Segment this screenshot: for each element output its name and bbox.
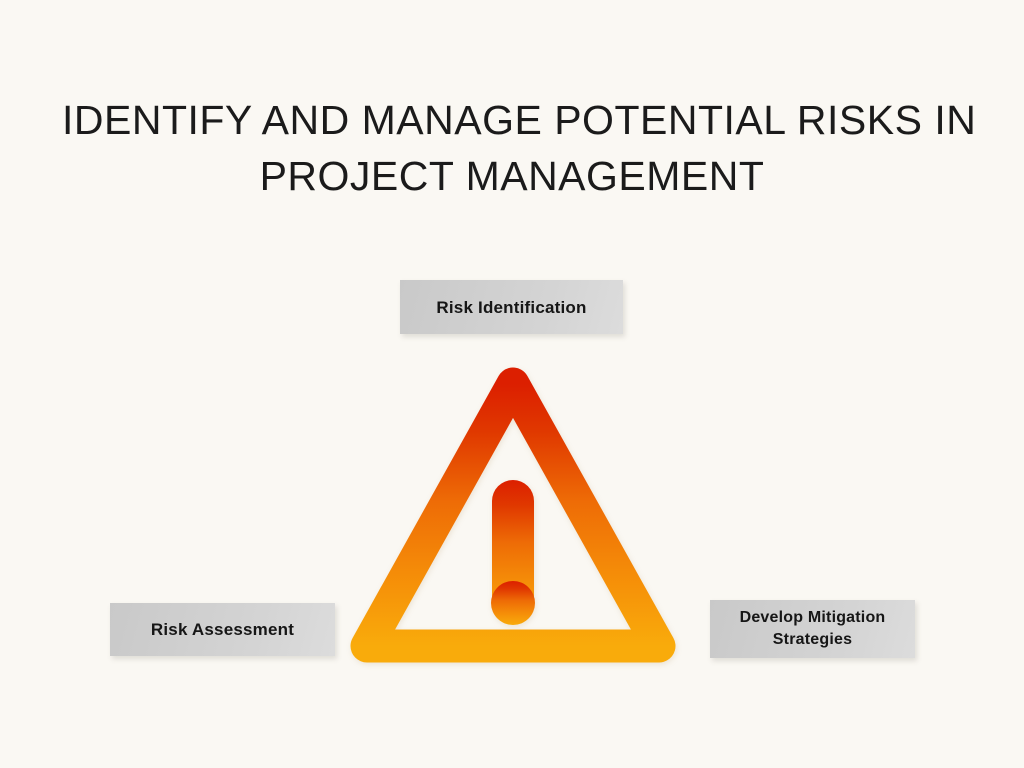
- label-box-develop-mitigation-strategies[interactable]: Develop Mitigation Strategies: [710, 600, 915, 658]
- label-box-risk-assessment[interactable]: Risk Assessment: [110, 603, 335, 656]
- page-title-line-1: IDENTIFY AND MANAGE POTENTIAL RISKS IN: [62, 92, 962, 148]
- label-box-risk-identification[interactable]: Risk Identification: [400, 280, 623, 334]
- warning-triangle-svg: [348, 358, 678, 683]
- label-box-mitigation-text-line-2: Strategies: [740, 629, 886, 651]
- label-box-mitigation-text-line-1: Develop Mitigation: [740, 607, 886, 629]
- slide-canvas: IDENTIFY AND MANAGE POTENTIAL RISKS IN P…: [0, 0, 1024, 768]
- page-title-line-2: PROJECT MANAGEMENT: [62, 148, 962, 204]
- page-title: IDENTIFY AND MANAGE POTENTIAL RISKS IN P…: [62, 92, 962, 204]
- exclamation-dot: [491, 581, 535, 625]
- label-box-develop-mitigation-strategies-text: Develop Mitigation Strategies: [740, 607, 886, 651]
- warning-triangle-exclamation-icon: [348, 358, 678, 683]
- label-box-risk-identification-text: Risk Identification: [436, 296, 586, 319]
- label-box-risk-assessment-text: Risk Assessment: [151, 618, 294, 641]
